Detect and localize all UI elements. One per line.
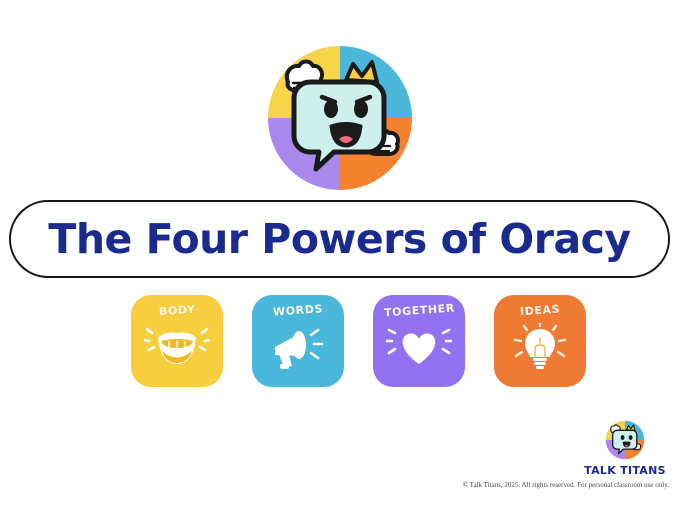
- copyright-notice: © Talk Titans, 2025. All rights reserved…: [463, 481, 669, 489]
- megaphone-icon: [265, 320, 331, 372]
- page-title: The Four Powers of Oracy: [48, 215, 630, 263]
- brand-name: TALK TITANS: [584, 464, 666, 477]
- power-card-words[interactable]: WORDS: [252, 295, 344, 387]
- four-powers-card-row: BODY WORDS: [131, 295, 586, 387]
- power-card-label: TOGETHER: [383, 302, 455, 320]
- title-banner: The Four Powers of Oracy: [9, 200, 670, 278]
- heart-icon: [386, 320, 452, 372]
- power-card-label: WORDS: [273, 302, 324, 318]
- power-card-ideas[interactable]: IDEAS: [494, 295, 586, 387]
- smiling-mouth-icon: [144, 320, 210, 372]
- power-card-body[interactable]: BODY: [131, 295, 223, 387]
- power-card-label: BODY: [158, 303, 195, 319]
- footer-brand-logo: TALK TITANS: [583, 418, 667, 477]
- power-card-together[interactable]: TOGETHER: [373, 295, 465, 387]
- talk-titans-logo: [258, 36, 422, 200]
- power-card-label: IDEAS: [520, 303, 561, 319]
- lightbulb-icon: [507, 320, 573, 372]
- talk-titans-mascot-icon: [603, 418, 647, 462]
- slide-canvas: The Four Powers of Oracy BODY: [0, 0, 679, 509]
